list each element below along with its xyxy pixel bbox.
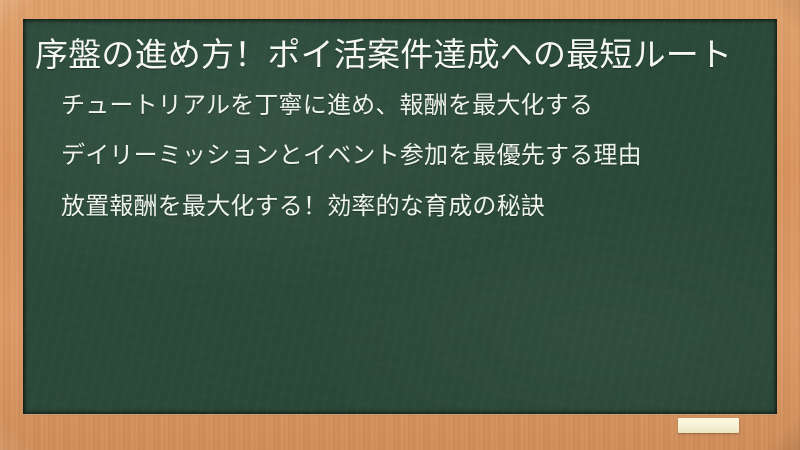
list-item: 放置報酬を最大化する！効率的な育成の秘訣	[61, 189, 751, 224]
list-item: チュートリアルを丁寧に進め、報酬を最大化する	[61, 88, 751, 123]
chalkboard-title-card: 序盤の進め方！ポイ活案件達成への最短ルート チュートリアルを丁寧に進め、報酬を最…	[0, 0, 800, 450]
page-title: 序盤の進め方！ポイ活案件達成への最短ルート	[33, 33, 755, 78]
board-content: 序盤の進め方！ポイ活案件達成への最短ルート チュートリアルを丁寧に進め、報酬を最…	[23, 19, 777, 414]
topic-list: チュートリアルを丁寧に進め、報酬を最大化する デイリーミッションとイベント参加を…	[33, 88, 755, 224]
chalk-stick-icon	[678, 418, 739, 433]
list-item: デイリーミッションとイベント参加を最優先する理由	[61, 138, 751, 173]
chalkboard-surface: 序盤の進め方！ポイ活案件達成への最短ルート チュートリアルを丁寧に進め、報酬を最…	[23, 19, 777, 414]
